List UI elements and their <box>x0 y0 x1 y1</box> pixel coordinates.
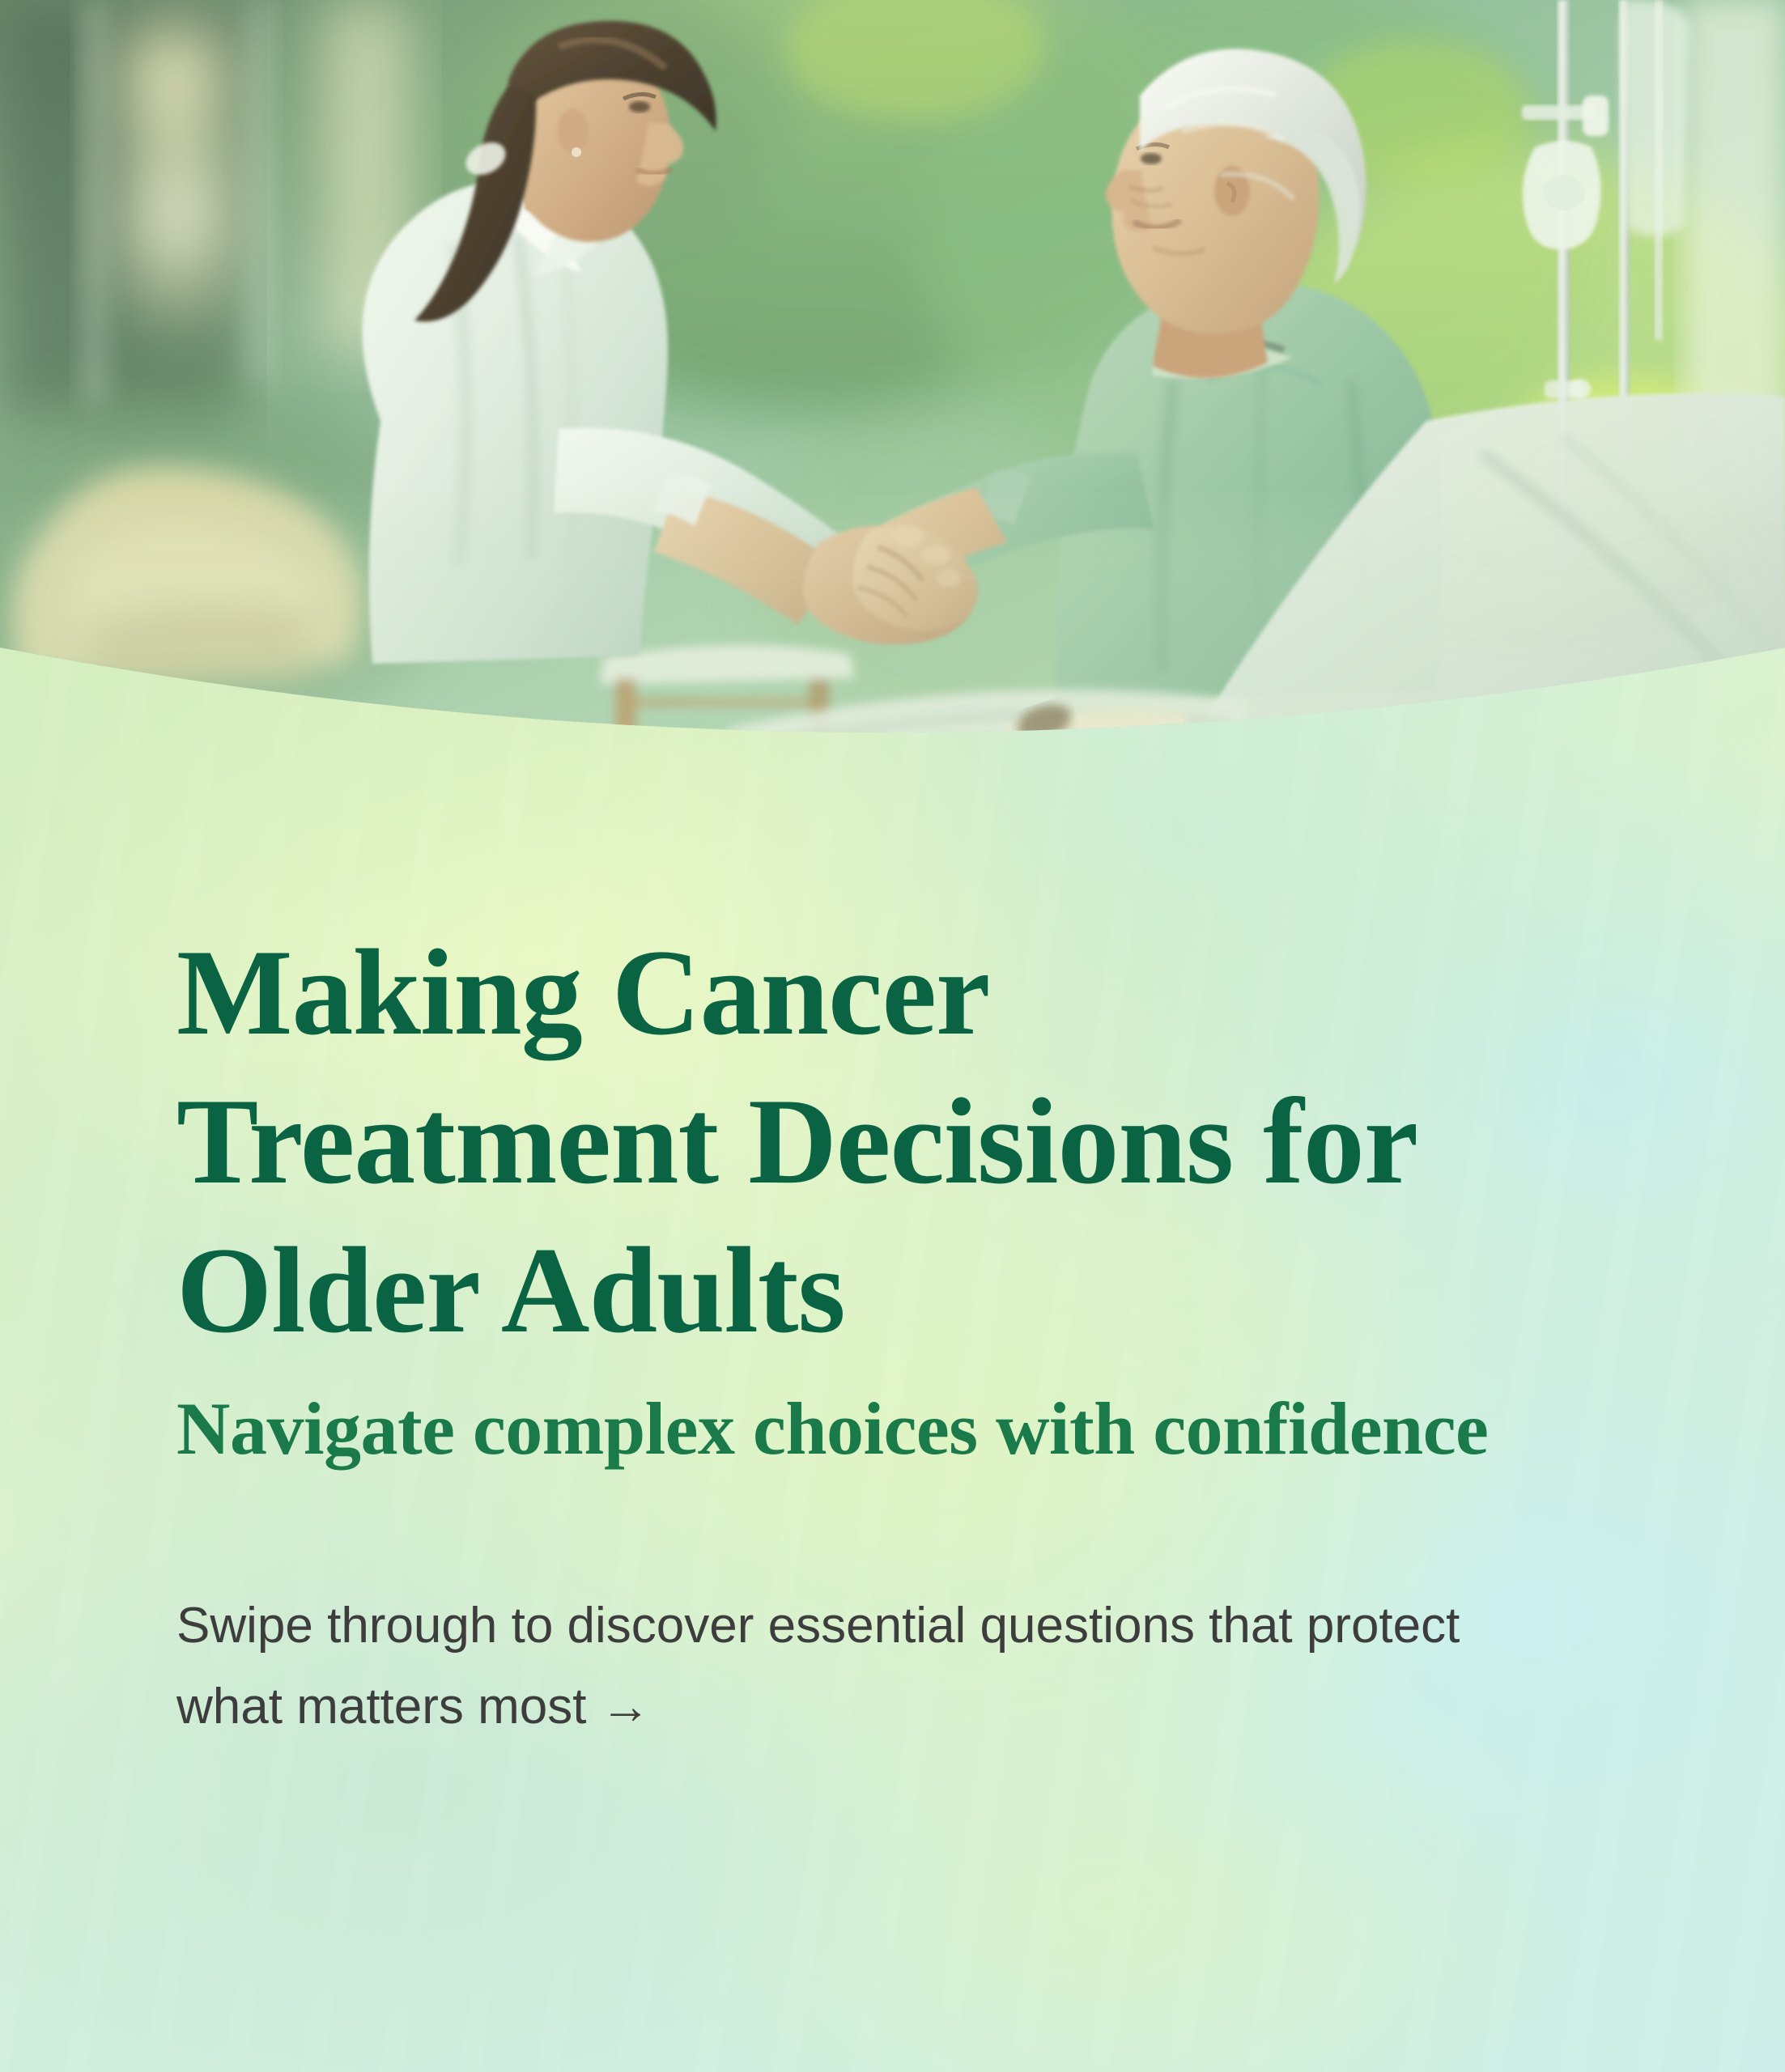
page-title: Making Cancer Treatment Decisions for Ol… <box>176 919 1553 1365</box>
text-content: Making Cancer Treatment Decisions for Ol… <box>176 919 1682 1748</box>
swipe-prompt-text: Swipe through to discover essential ques… <box>176 1586 1545 1748</box>
page-subtitle: Navigate complex choices with confidence <box>176 1383 1626 1474</box>
hero-image <box>0 0 1785 777</box>
slide-card: Making Cancer Treatment Decisions for Ol… <box>0 0 1785 2072</box>
